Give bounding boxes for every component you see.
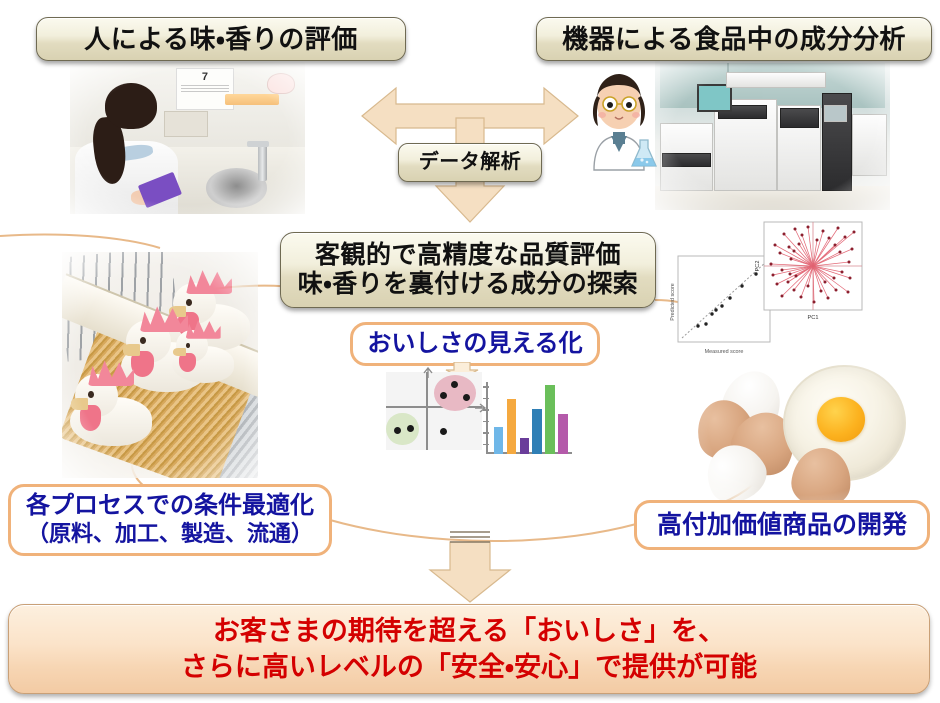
booth-number-label: 7 [177,69,233,83]
header-right-label: 機器による食品中の成分分析 [562,24,906,55]
chicken-farm-photo [62,252,258,478]
quadrant-cluster-chart [386,372,482,450]
conclusion-line-2: さらに高いレベルの「安全・安心」で提供が可能 [181,649,757,685]
product-label: 高付加価値商品の開発 [657,510,907,540]
eggs-photo [692,356,920,504]
data-analysis-label: データ解析 [419,151,522,175]
pca-ylabel: PC2 [755,261,761,272]
bar-4 [532,409,541,454]
component-bar-chart [486,382,572,454]
hen-3 [172,320,235,383]
bar-6 [558,414,567,454]
data-analysis-label-box[interactable]: データ解析 [398,143,542,182]
visualization-callout[interactable]: おいしさの見える化 [350,322,600,366]
result-box[interactable]: 客観的で高精度な品質評価 味・香りを裏付ける成分の探索 [280,232,656,308]
pca-xlabel: PC1 [808,315,819,321]
result-line-1: 客観的で高精度な品質評価 [315,241,621,271]
bar-3 [520,438,529,454]
bar-2 [507,399,516,454]
visualization-label: おいしさの見える化 [367,330,582,359]
sensory-evaluation-photo: 7 [70,62,305,214]
regression-xlabel: Measured score [705,349,744,355]
header-left-label: 人による味・香りの評価 [84,24,358,55]
product-development-callout[interactable]: 高付加価値商品の開発 [634,500,930,550]
process-line-1: 各プロセスでの条件最適化 [26,492,314,521]
bar-5 [545,385,554,454]
instrument-photo [655,60,890,210]
header-left-sensory-evaluation[interactable]: 人による味・香りの評価 [36,17,406,61]
bar-1 [494,427,503,454]
analysis-plots-group: Measured score Predicted score [668,218,866,360]
big-arrow-down-icon [416,528,524,604]
connector-left-edge [0,235,160,249]
conclusion-line-1: お客さまの期待を超える「おいしさ」を、 [213,613,725,649]
hen-4 [70,360,152,446]
header-right-instrument-analysis[interactable]: 機器による食品中の成分分析 [536,17,932,61]
process-optimization-callout[interactable]: 各プロセスでの条件最適化 （原料、加工、製造、流通） [8,484,332,556]
scientist-illustration [576,66,662,172]
regression-ylabel: Predicted score [670,283,676,320]
diagram-canvas: 7 [0,0,940,703]
conclusion-banner[interactable]: お客さまの期待を超える「おいしさ」を、 さらに高いレベルの「安全・安心」で提供が… [8,604,930,694]
result-line-2: 味・香りを裏付ける成分の探索 [298,270,639,300]
process-line-2: （原料、加工、製造、流通） [27,521,313,547]
